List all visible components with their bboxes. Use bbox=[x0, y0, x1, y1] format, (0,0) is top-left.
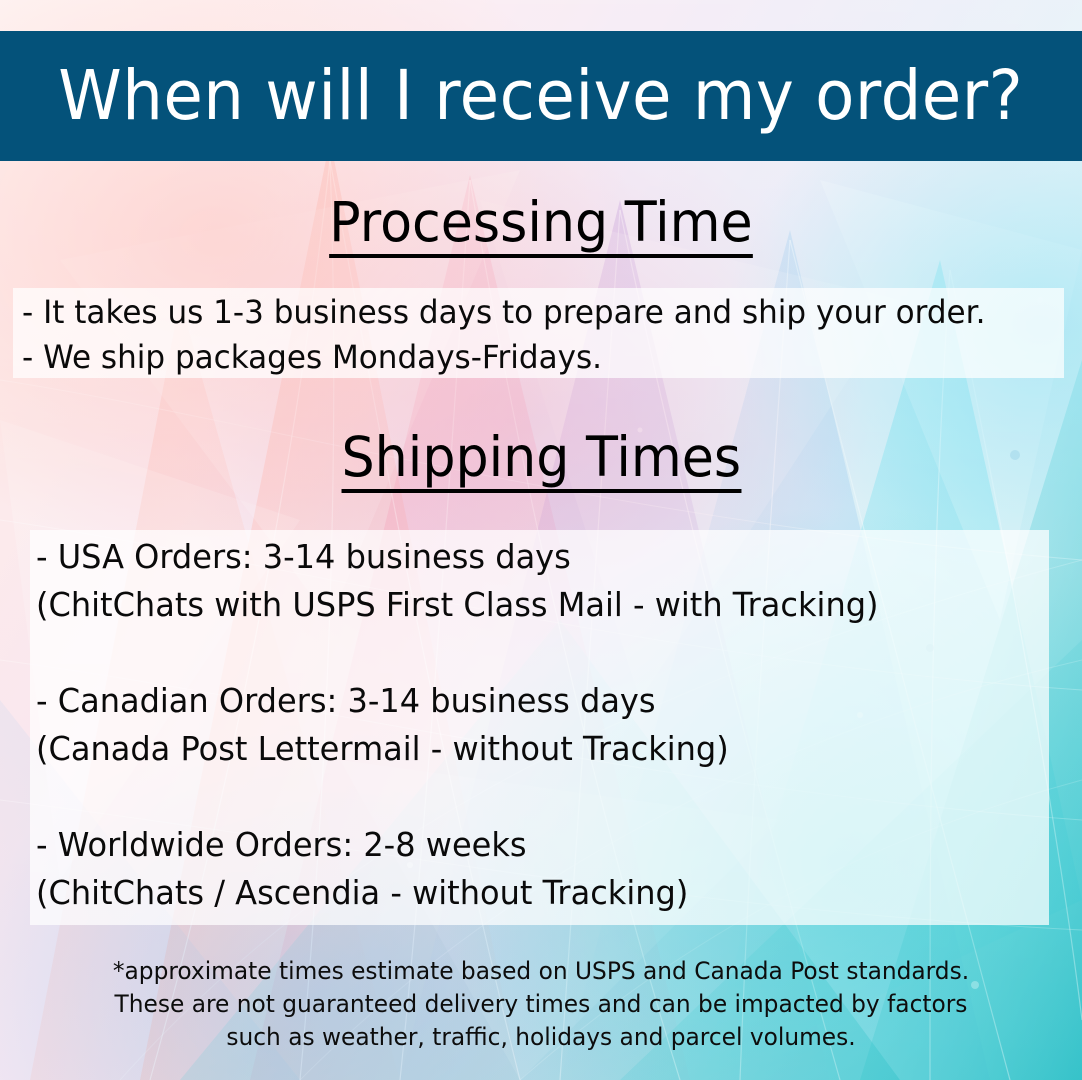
processing-line-2: - We ship packages Mondays-Fridays. bbox=[22, 335, 1031, 380]
processing-line-1: - It takes us 1-3 business days to prepa… bbox=[22, 290, 1031, 335]
shipping-usa-carrier: (ChitChats with USPS First Class Mail - … bbox=[36, 581, 1016, 629]
shipping-worldwide-carrier: (ChitChats / Ascendia - without Tracking… bbox=[36, 869, 1016, 917]
shipping-times-heading: Shipping Times bbox=[0, 430, 1082, 493]
disclaimer-note: *approximate times estimate based on USP… bbox=[0, 955, 1082, 1054]
shipping-canada-region: - Canadian Orders: 3-14 business days bbox=[36, 677, 1016, 725]
processing-time-heading: Processing Time bbox=[0, 195, 1082, 258]
processing-time-body: - It takes us 1-3 business days to prepa… bbox=[22, 290, 1062, 380]
shipping-times-heading-text: Shipping Times bbox=[341, 430, 741, 493]
shipping-group-canada: - Canadian Orders: 3-14 business days (C… bbox=[36, 677, 1046, 773]
shipping-usa-region: - USA Orders: 3-14 business days bbox=[36, 533, 1016, 581]
disclaimer-line-1: *approximate times estimate based on USP… bbox=[16, 955, 1066, 988]
poster-title: When will I receive my order? bbox=[59, 62, 1024, 131]
shipping-canada-carrier: (Canada Post Lettermail - without Tracki… bbox=[36, 725, 1016, 773]
processing-time-heading-text: Processing Time bbox=[329, 195, 752, 258]
shipping-info-poster: When will I receive my order? Processing… bbox=[0, 0, 1082, 1080]
shipping-group-usa: - USA Orders: 3-14 business days (ChitCh… bbox=[36, 533, 1046, 629]
title-banner: When will I receive my order? bbox=[0, 31, 1082, 161]
shipping-group-worldwide: - Worldwide Orders: 2-8 weeks (ChitChats… bbox=[36, 821, 1046, 917]
disclaimer-line-2: These are not guaranteed delivery times … bbox=[16, 988, 1066, 1021]
shipping-times-body: - USA Orders: 3-14 business days (ChitCh… bbox=[36, 533, 1046, 917]
shipping-worldwide-region: - Worldwide Orders: 2-8 weeks bbox=[36, 821, 1016, 869]
disclaimer-line-3: such as weather, traffic, holidays and p… bbox=[16, 1021, 1066, 1054]
